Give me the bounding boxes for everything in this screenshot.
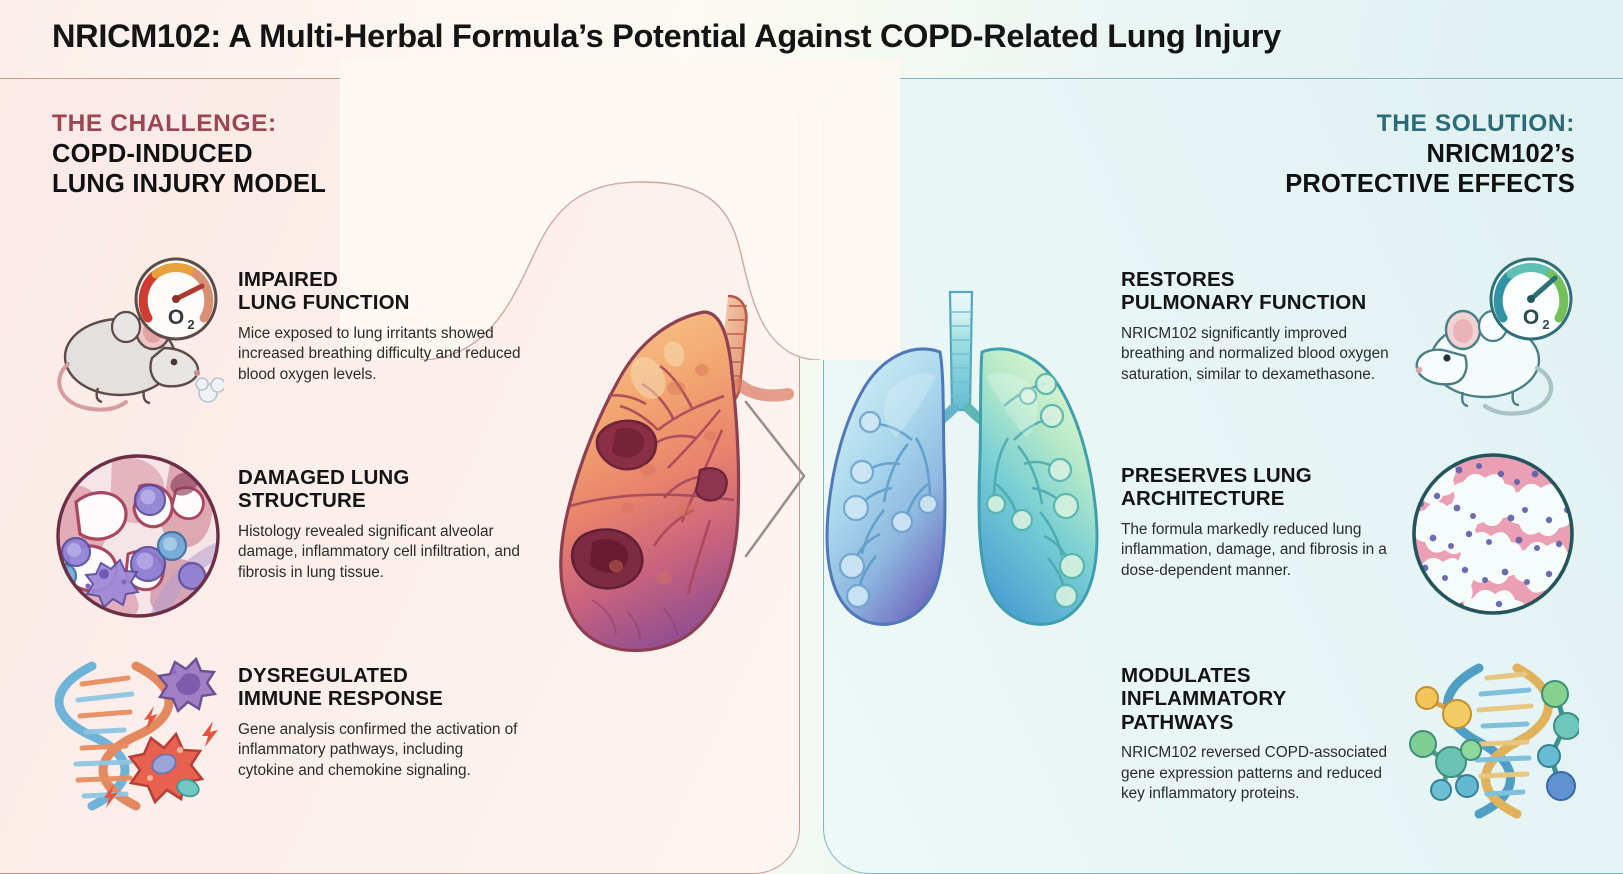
svg-text:O: O [168,306,184,329]
item-text-block: MODULATES INFLAMMATORY PATHWAYS NRICM102… [1121,648,1399,805]
item-title: RESTORES PULMONARY FUNCTION [1121,268,1399,315]
mouse-low-oxygen-gauge-icon: O 2 [52,252,224,424]
infographic-canvas: NRICM102: A Multi-Herbal Formula’s Poten… [0,0,1623,874]
list-item-restores-pulmonary-function: O 2 RESTORES PULMONARY FUNCTION NRICM102… [1064,252,1579,424]
item-title: PRESERVES LUNG ARCHITECTURE [1121,464,1399,511]
item-title: IMPAIRED LUNG FUNCTION [238,268,523,315]
item-title: DAMAGED LUNG STRUCTURE [238,466,523,513]
solution-column-header: THE SOLUTION: NRICM102’s PROTECTIVE EFFE… [1285,110,1575,200]
item-text-block: DYSREGULATED IMMUNE RESPONSE Gene analys… [238,648,523,781]
item-body: Gene analysis confirmed the activation o… [238,720,523,781]
list-item-impaired-lung-function: O 2 IMPAIRED LUNG FUNCTION Mice exposed … [52,252,542,424]
item-body: NRICM102 reversed COPD-associated gene e… [1121,743,1399,804]
healthy-alveoli-histology-circle-icon [1407,448,1579,620]
solution-eyebrow: THE SOLUTION: [1285,110,1575,138]
item-text-block: PRESERVES LUNG ARCHITECTURE The formula … [1121,448,1399,581]
dna-molecules-icon [1407,648,1579,820]
svg-text:2: 2 [187,317,194,332]
dna-inflamed-immune-cells-icon [52,648,224,820]
item-text-block: RESTORES PULMONARY FUNCTION NRICM102 sig… [1121,252,1399,385]
item-text-block: IMPAIRED LUNG FUNCTION Mice exposed to l… [238,252,523,385]
list-item-dysregulated-immune-response: DYSREGULATED IMMUNE RESPONSE Gene analys… [52,648,542,820]
challenge-column-header: THE CHALLENGE: COPD-INDUCED LUNG INJURY … [52,110,326,200]
mouse-healthy-oxygen-gauge-icon: O 2 [1407,252,1579,424]
challenge-eyebrow: THE CHALLENGE: [52,110,326,138]
item-title: MODULATES INFLAMMATORY PATHWAYS [1121,664,1399,734]
challenge-headline: COPD-INDUCED LUNG INJURY MODEL [52,140,326,200]
item-title: DYSREGULATED IMMUNE RESPONSE [238,664,523,711]
svg-text:O: O [1523,306,1539,329]
list-item-modulates-inflammatory-pathways: MODULATES INFLAMMATORY PATHWAYS NRICM102… [1064,648,1579,820]
item-body: The formula markedly reduced lung inflam… [1121,520,1399,581]
svg-text:2: 2 [1542,317,1549,332]
item-body: Mice exposed to lung irritants showed in… [238,324,523,385]
item-body: NRICM102 significantly improved breathin… [1121,324,1399,385]
item-text-block: DAMAGED LUNG STRUCTURE Histology reveale… [238,450,523,583]
list-item-damaged-lung-structure: DAMAGED LUNG STRUCTURE Histology reveale… [52,450,542,622]
damaged-histology-circle-icon [52,450,224,622]
solution-headline: NRICM102’s PROTECTIVE EFFECTS [1285,140,1575,200]
page-title: NRICM102: A Multi-Herbal Formula’s Poten… [52,18,1592,55]
list-item-preserves-lung-architecture: PRESERVES LUNG ARCHITECTURE The formula … [1064,448,1579,620]
item-body: Histology revealed significant alveolar … [238,522,523,583]
